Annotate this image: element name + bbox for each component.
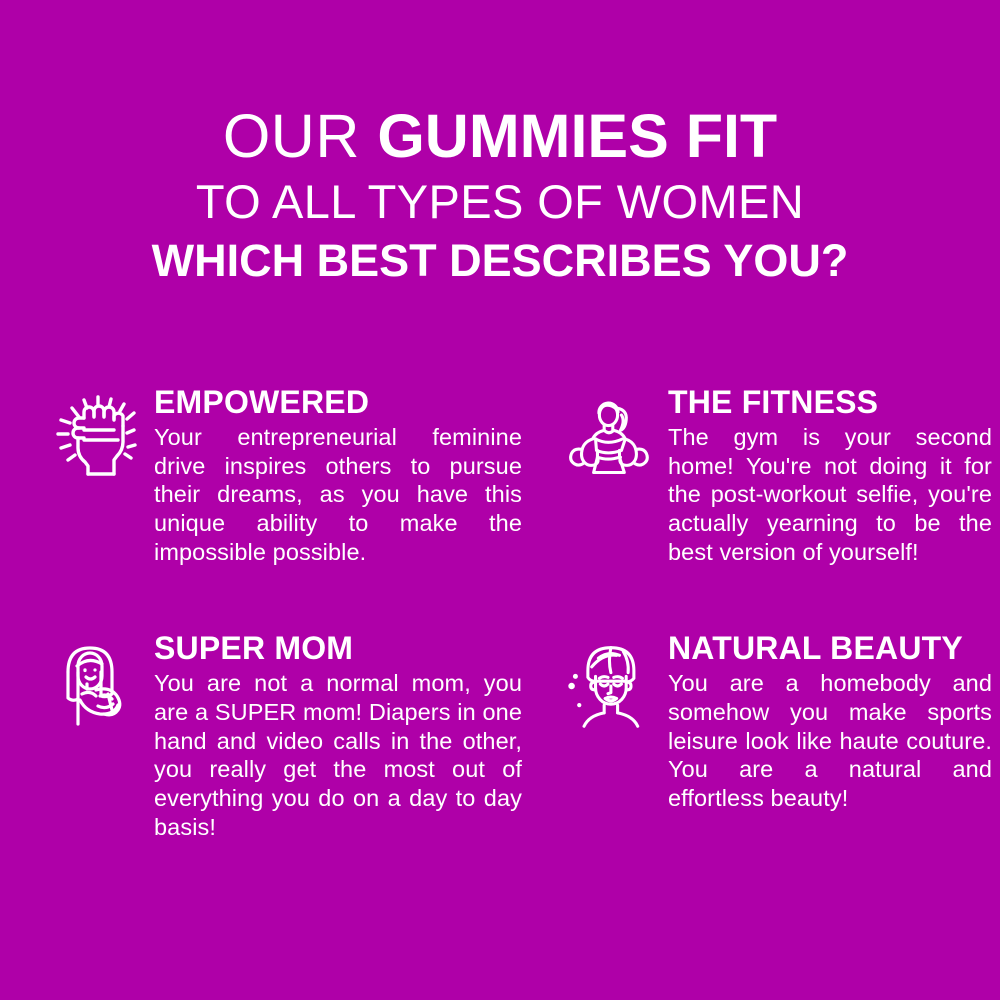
feature-title-empowered: EMPOWERED — [154, 386, 522, 418]
feature-card-body: SUPER MOM You are not a normal mom, you … — [154, 632, 522, 841]
poster-root: OUR GUMMIES FIT TO ALL TYPES OF WOMEN WH… — [0, 0, 1000, 1000]
feature-title-supermom: SUPER MOM — [154, 632, 522, 664]
feature-card-body: THE FITNESS The gym is your second home!… — [668, 386, 992, 566]
headline-line-1: OUR GUMMIES FIT — [0, 106, 1000, 167]
feature-card-fitness: THE FITNESS The gym is your second home!… — [562, 386, 992, 566]
feature-text-supermom: You are not a normal mom, you are a SUPE… — [154, 669, 522, 841]
feature-title-beauty: NATURAL BEAUTY — [668, 632, 992, 664]
feature-title-fitness: THE FITNESS — [668, 386, 992, 418]
woman-face-hair-towel-icon — [562, 636, 654, 736]
woman-flexing-biceps-icon — [562, 390, 654, 490]
feature-text-beauty: You are a homebody and somehow you make … — [668, 669, 992, 812]
feature-card-body: NATURAL BEAUTY You are a homebody and so… — [668, 632, 992, 812]
raised-fist-icon — [48, 390, 140, 490]
feature-card-beauty: NATURAL BEAUTY You are a homebody and so… — [562, 632, 992, 841]
headline-line-2: TO ALL TYPES OF WOMEN — [0, 178, 1000, 225]
headline-line-1-light: OUR — [223, 102, 378, 170]
feature-grid: EMPOWERED Your entrepreneurial feminine … — [0, 386, 1000, 841]
mother-holding-baby-icon — [48, 636, 140, 736]
feature-card-empowered: EMPOWERED Your entrepreneurial feminine … — [48, 386, 522, 566]
headline-line-3: WHICH BEST DESCRIBES YOU? — [0, 238, 1000, 283]
feature-text-empowered: Your entrepreneurial feminine drive insp… — [154, 423, 522, 566]
headline-block: OUR GUMMIES FIT TO ALL TYPES OF WOMEN WH… — [0, 0, 1000, 283]
headline-line-1-bold: GUMMIES FIT — [377, 102, 777, 170]
feature-card-body: EMPOWERED Your entrepreneurial feminine … — [154, 386, 522, 566]
feature-card-supermom: SUPER MOM You are not a normal mom, you … — [48, 632, 522, 841]
feature-text-fitness: The gym is your second home! You're not … — [668, 423, 992, 566]
